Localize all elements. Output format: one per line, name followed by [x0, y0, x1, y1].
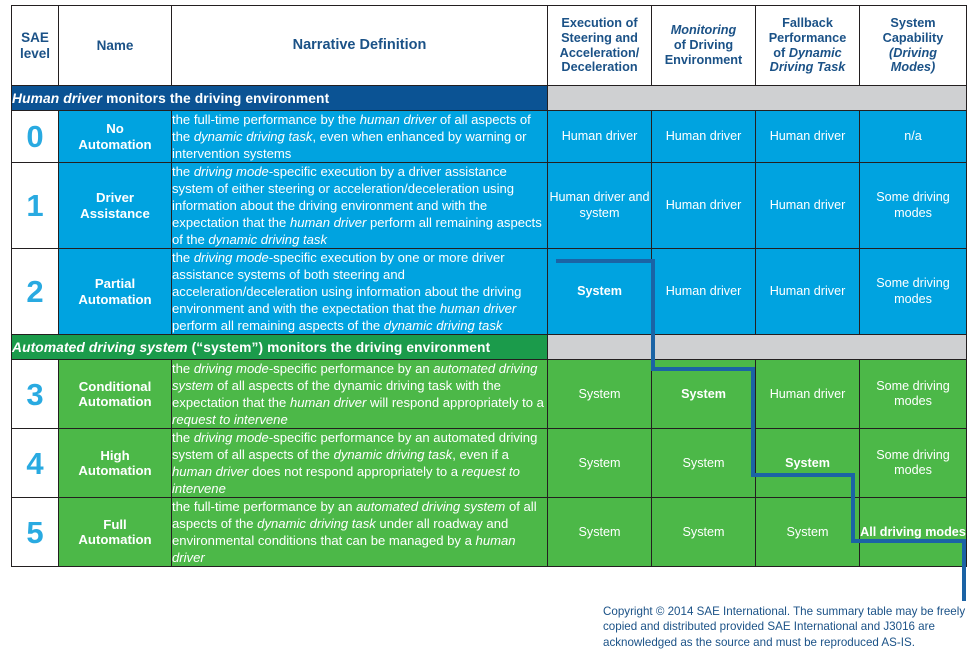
section-banner-automated-system: Automated driving system (“system”) moni…: [12, 335, 967, 360]
level-number-1: 1: [12, 163, 59, 249]
header-execution-line2: Steering and: [561, 31, 638, 45]
level-number-5: 5: [12, 498, 59, 567]
narrative-definition-5: the full-time performance by an automate…: [172, 498, 548, 567]
header-sae-level-line2: level: [20, 46, 50, 61]
level-number-4: 4: [12, 429, 59, 498]
fallback-cell-1: Human driver: [756, 163, 860, 249]
header-narrative-label: Narrative Definition: [293, 37, 427, 53]
narrative-definition-2: the driving mode-specific execution by o…: [172, 249, 548, 335]
table-row: 2PartialAutomationthe driving mode-speci…: [12, 249, 967, 335]
level-name-2: PartialAutomation: [59, 249, 172, 335]
sae-levels-table-figure: SAE level Name Narrative Definition Exec…: [0, 0, 977, 650]
table-row: 3ConditionalAutomationthe driving mode-s…: [12, 360, 967, 429]
copyright-notice: Copyright © 2014 SAE International. The …: [603, 604, 973, 650]
header-narrative-definition: Narrative Definition: [172, 6, 548, 86]
header-execution-line1: Execution of: [561, 16, 637, 30]
header-execution-line4: Deceleration: [561, 60, 637, 74]
transition-outline-seg-l4-top: [751, 473, 855, 477]
narrative-definition-3: the driving mode-specific performance by…: [172, 360, 548, 429]
execution-cell-1: Human driver and system: [548, 163, 652, 249]
transition-outline-seg-l5-top: [851, 539, 966, 543]
transition-outline-seg-l3-right: [751, 367, 755, 477]
execution-cell-5: System: [548, 498, 652, 567]
execution-cell-0: Human driver: [548, 111, 652, 163]
narrative-definition-1: the driving mode-specific execution by a…: [172, 163, 548, 249]
monitoring-cell-2: Human driver: [652, 249, 756, 335]
table-header-row: SAE level Name Narrative Definition Exec…: [12, 6, 967, 86]
level-number-0: 0: [12, 111, 59, 163]
capability-cell-3: Some driving modes: [860, 360, 967, 429]
table-row: 4HighAutomationthe driving mode-specific…: [12, 429, 967, 498]
table-row: 5FullAutomationthe full-time performance…: [12, 498, 967, 567]
monitoring-cell-4: System: [652, 429, 756, 498]
fallback-cell-5: System: [756, 498, 860, 567]
header-capability-line4: Modes): [891, 60, 935, 74]
monitoring-cell-0: Human driver: [652, 111, 756, 163]
header-sae-level: SAE level: [12, 6, 59, 86]
transition-outline-seg-l2-right: [651, 259, 655, 371]
capability-cell-0: n/a: [860, 111, 967, 163]
table-body: Human driver monitors the driving enviro…: [12, 86, 967, 567]
capability-cell-2: Some driving modes: [860, 249, 967, 335]
capability-cell-1: Some driving modes: [860, 163, 967, 249]
monitoring-cell-1: Human driver: [652, 163, 756, 249]
execution-cell-3: System: [548, 360, 652, 429]
section-banner-human-driver: Human driver monitors the driving enviro…: [12, 86, 967, 111]
header-capability-line1: System: [890, 16, 935, 30]
capability-cell-5: All driving modes: [860, 498, 967, 567]
header-monitoring-line1: Monitoring: [671, 23, 737, 37]
level-name-0: NoAutomation: [59, 111, 172, 163]
transition-outline-seg-l2-top: [556, 259, 655, 263]
level-name-4: HighAutomation: [59, 429, 172, 498]
level-number-2: 2: [12, 249, 59, 335]
section-banner-human-driver-spacer: [548, 86, 967, 111]
capability-cell-4: Some driving modes: [860, 429, 967, 498]
level-number-3: 3: [12, 360, 59, 429]
header-fallback-performance: Fallback Performance of Dynamic Driving …: [756, 6, 860, 86]
header-sae-level-line1: SAE: [21, 30, 49, 45]
header-fallback-line3-prefix: of: [773, 46, 789, 60]
header-execution-line3: Acceleration/: [560, 46, 640, 60]
level-name-3: ConditionalAutomation: [59, 360, 172, 429]
narrative-definition-4: the driving mode-specific performance by…: [172, 429, 548, 498]
fallback-cell-4: System: [756, 429, 860, 498]
narrative-definition-0: the full-time performance by the human d…: [172, 111, 548, 163]
header-name-label: Name: [97, 38, 134, 53]
sae-automation-levels-table: SAE level Name Narrative Definition Exec…: [11, 5, 967, 567]
transition-outline-seg-l5-right: [962, 539, 966, 601]
table-row: 0NoAutomationthe full-time performance b…: [12, 111, 967, 163]
header-capability-line2: Capability: [883, 31, 944, 45]
header-execution-of-steering: Execution of Steering and Acceleration/ …: [548, 6, 652, 86]
level-name-1: DriverAssistance: [59, 163, 172, 249]
header-fallback-line3-italic: Dynamic: [789, 46, 842, 60]
header-fallback-line2: Performance: [769, 31, 847, 45]
transition-outline-seg-l3-top: [651, 367, 755, 371]
fallback-cell-3: Human driver: [756, 360, 860, 429]
section-banner-automated-system-spacer: [548, 335, 967, 360]
header-name: Name: [59, 6, 172, 86]
header-monitoring-line2: of Driving: [674, 38, 733, 52]
section-banner-automated-system-label: Automated driving system (“system”) moni…: [12, 335, 548, 360]
header-monitoring-line3: Environment: [665, 53, 743, 67]
header-system-capability: System Capability (Driving Modes): [860, 6, 967, 86]
level-name-5: FullAutomation: [59, 498, 172, 567]
section-banner-human-driver-label: Human driver monitors the driving enviro…: [12, 86, 548, 111]
header-capability-line3: (Driving: [889, 46, 937, 60]
fallback-cell-0: Human driver: [756, 111, 860, 163]
table-row: 1DriverAssistancethe driving mode-specif…: [12, 163, 967, 249]
header-fallback-line4: Driving Task: [770, 60, 846, 74]
monitoring-cell-5: System: [652, 498, 756, 567]
transition-outline-seg-l4-right: [851, 473, 855, 543]
header-fallback-line1: Fallback: [782, 16, 833, 30]
execution-cell-4: System: [548, 429, 652, 498]
header-monitoring-driving-environment: Monitoring of Driving Environment: [652, 6, 756, 86]
fallback-cell-2: Human driver: [756, 249, 860, 335]
